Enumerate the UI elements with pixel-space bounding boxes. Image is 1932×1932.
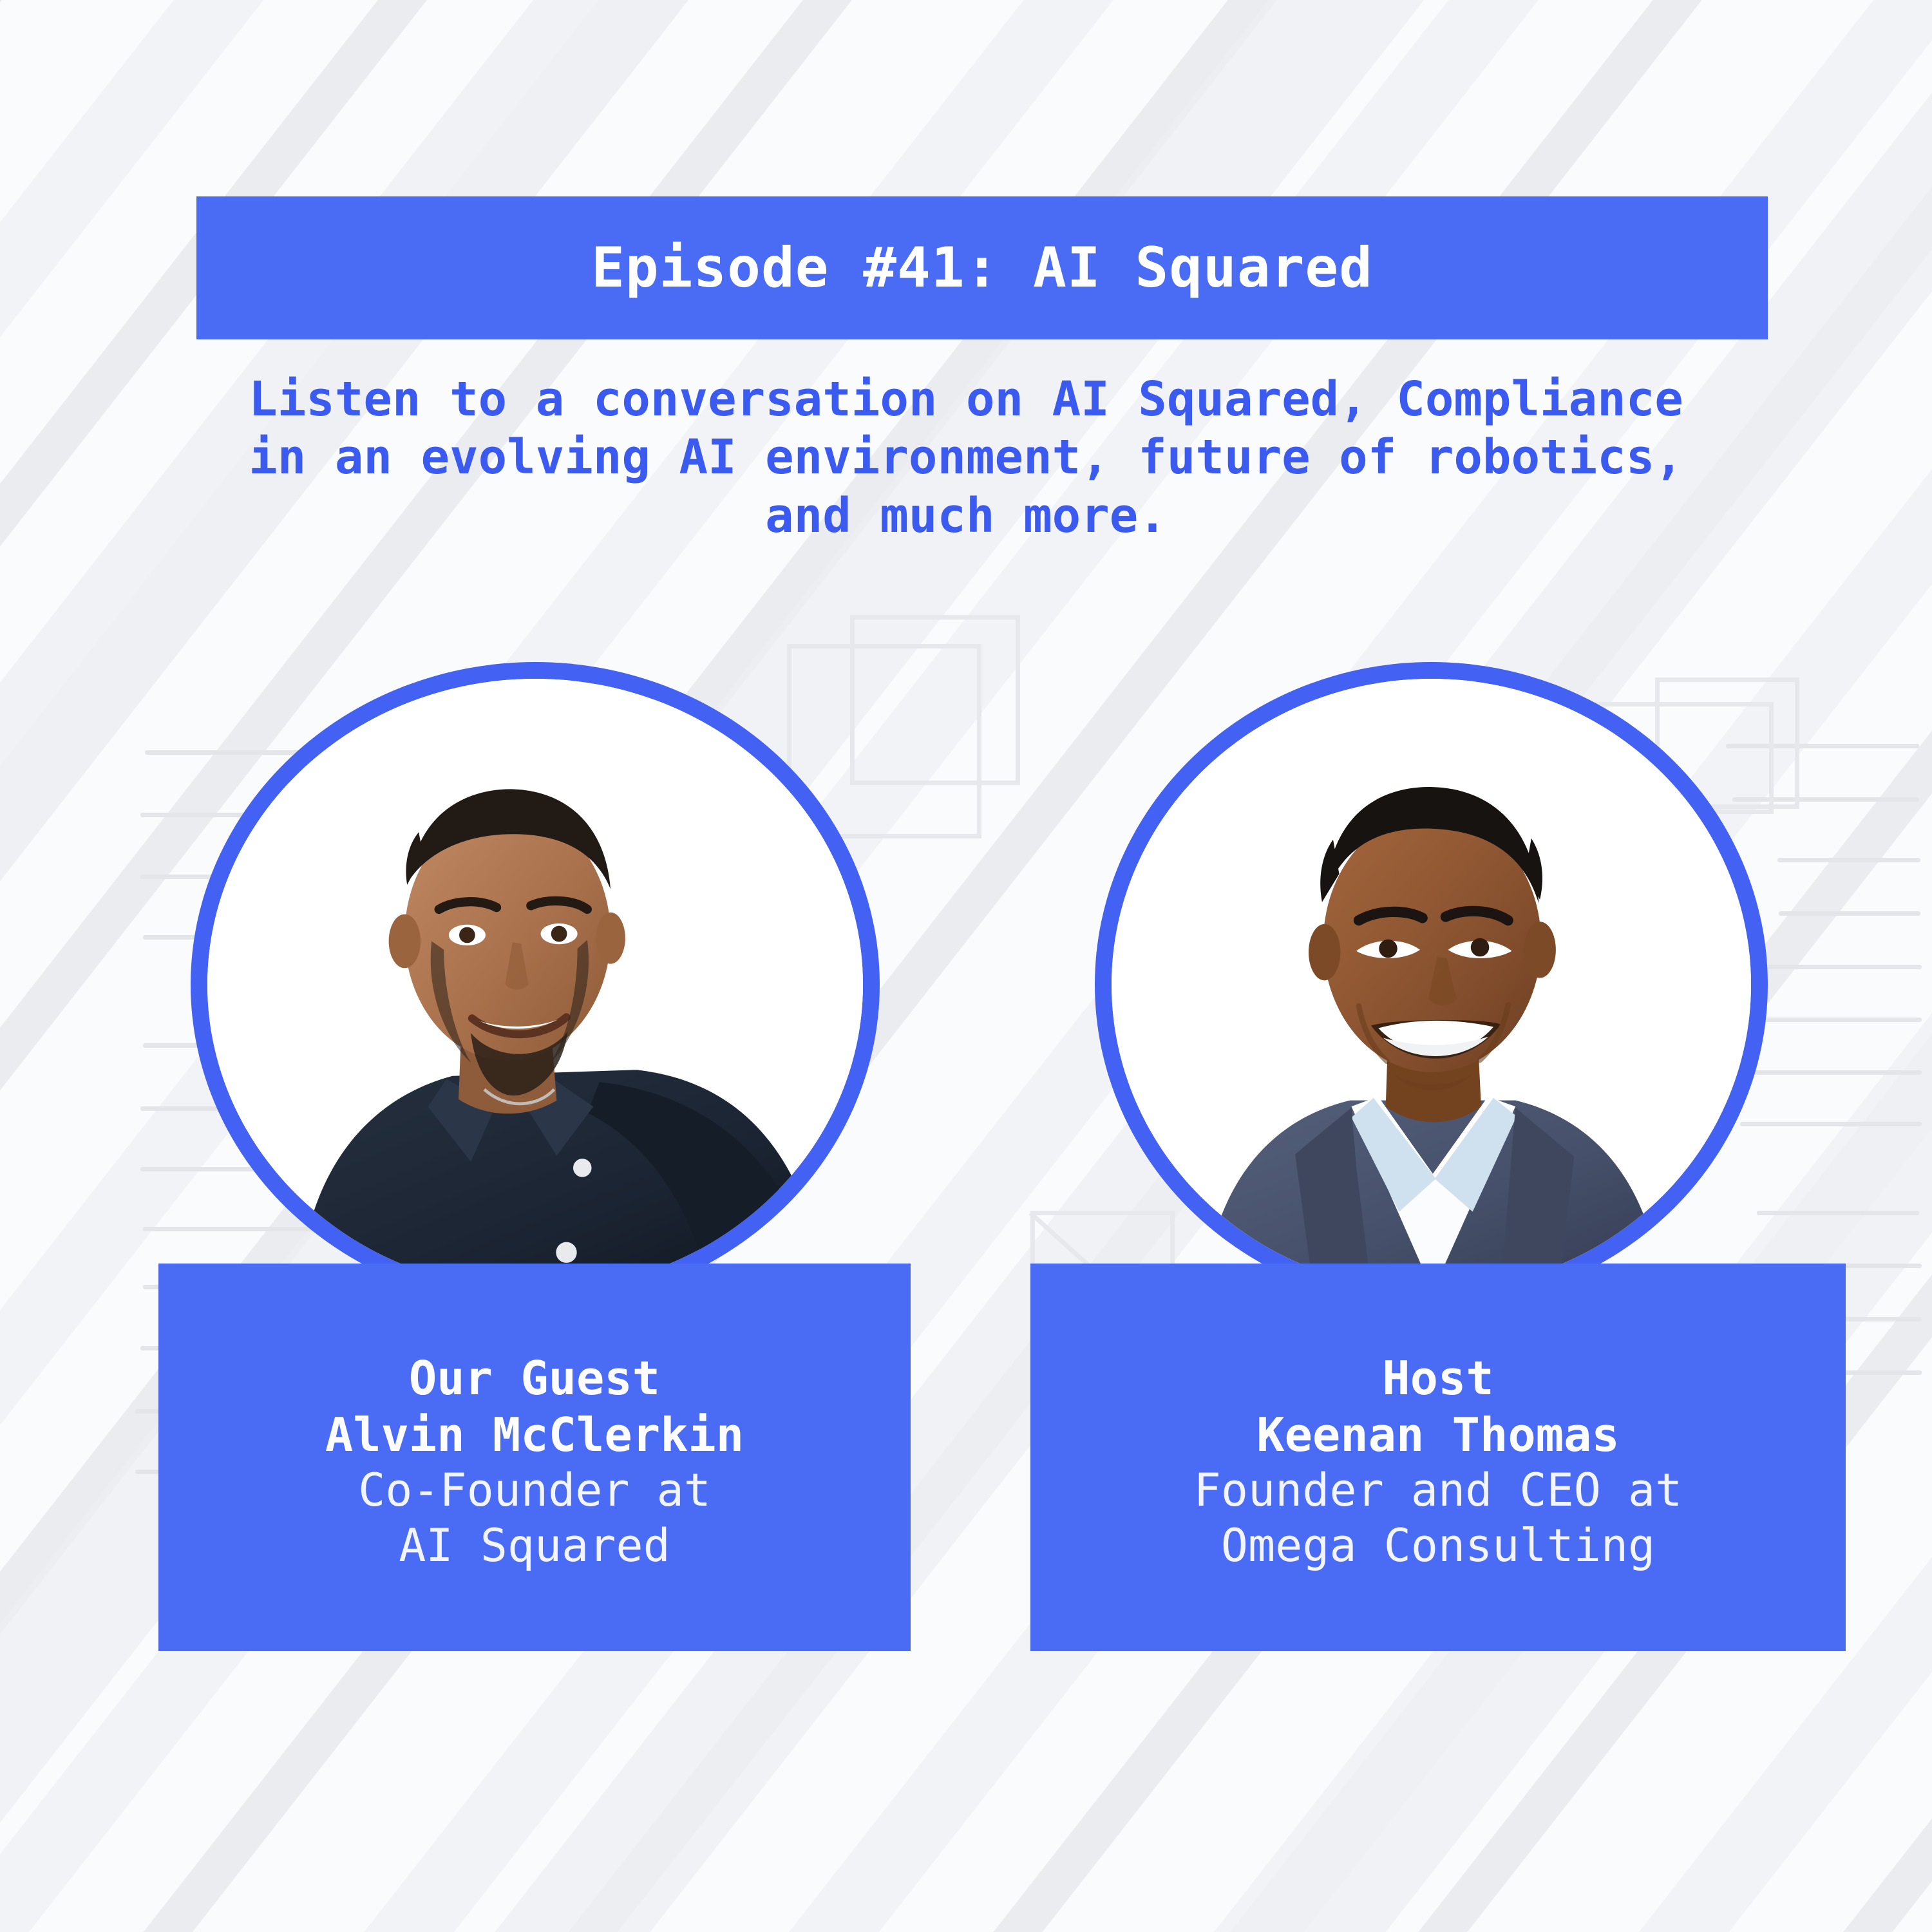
deco-line xyxy=(1757,1211,1919,1215)
host-role-label: Host xyxy=(1382,1350,1493,1407)
host-name: Keenan Thomas xyxy=(1256,1407,1620,1464)
deco-line xyxy=(1779,911,1920,916)
platform-logo-row: OMEGA® CONSULTING Spotify xyxy=(0,1713,1932,1932)
deco-line xyxy=(1747,965,1922,969)
guest-role-label: Our Guest xyxy=(409,1350,660,1407)
host-photo-circle xyxy=(1095,662,1768,1307)
guest-title-line-2: AI Squared xyxy=(399,1519,670,1573)
episode-description: Listen to a conversation on AI Squared, … xyxy=(193,370,1739,545)
host-title-line-1: Founder and CEO at xyxy=(1194,1463,1683,1518)
deco-line xyxy=(1740,1018,1922,1022)
episode-title-banner: Episode #41: AI Squared xyxy=(196,196,1768,339)
deco-line xyxy=(1726,744,1919,748)
guest-photo-circle xyxy=(191,662,880,1307)
description-line-3: and much more. xyxy=(193,487,1739,545)
deco-line xyxy=(1747,1070,1922,1075)
podcast-episode-graphic: Episode #41: AI Squared Listen to a conv… xyxy=(0,0,1932,1932)
description-line-1: Listen to a conversation on AI Squared, … xyxy=(193,370,1739,428)
host-avatar xyxy=(1112,679,1751,1291)
guest-name: Alvin McClerkin xyxy=(325,1407,744,1464)
deco-line xyxy=(1777,858,1920,862)
guest-caption-box: Our Guest Alvin McClerkin Co-Founder at … xyxy=(158,1264,911,1651)
deco-line xyxy=(1732,797,1919,802)
deco-line xyxy=(1740,1122,1922,1126)
description-line-2: in an evolving AI environment, future of… xyxy=(193,428,1739,486)
host-title-line-2: Omega Consulting xyxy=(1221,1519,1655,1573)
page-title: Episode #41: AI Squared xyxy=(591,236,1373,300)
guest-avatar xyxy=(207,679,863,1291)
guest-title-line-1: Co-Founder at xyxy=(358,1463,711,1518)
deco-line xyxy=(1029,1211,1094,1271)
host-caption-box: Host Keenan Thomas Founder and CEO at Om… xyxy=(1030,1264,1846,1651)
deco-square xyxy=(850,615,1020,785)
